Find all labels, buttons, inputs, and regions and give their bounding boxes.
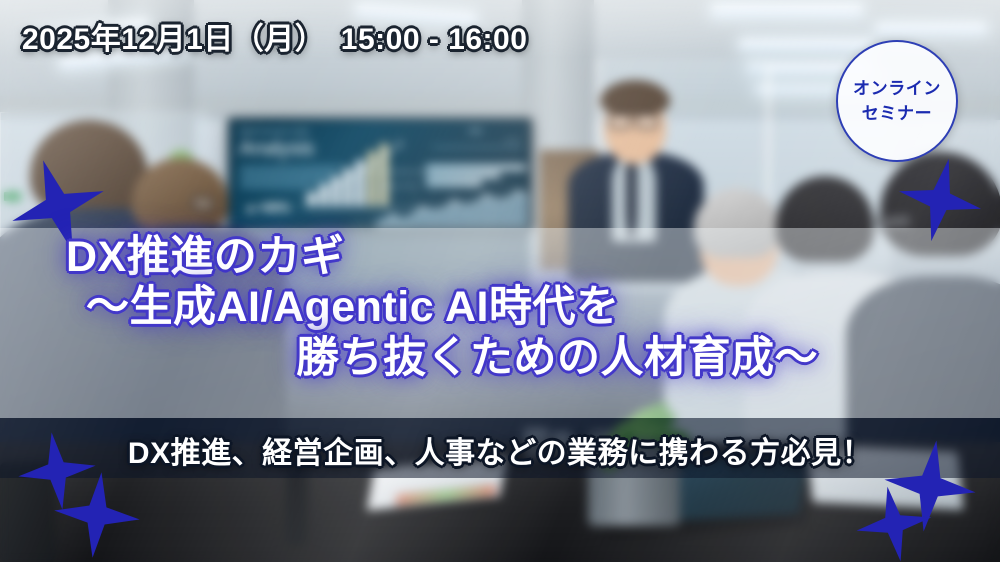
date-time-text: 2025年12月1日（月） 15:00 - 16:00: [22, 14, 527, 58]
title-line-2: 〜生成AI/Agentic AI時代を: [0, 282, 1000, 332]
sparkle-bottom-right-b-icon: [850, 480, 938, 562]
title-line-1: DX推進のカギ: [0, 232, 1000, 282]
presenter-tie: [626, 162, 637, 238]
eyeglasses-icon: [609, 114, 631, 129]
screen-dash-icon: [469, 130, 482, 132]
title-line-3: 勝ち抜くための人材育成〜: [0, 333, 1000, 383]
presentation-screen: Digital Distribution & Sales REPORT Anal…: [228, 118, 532, 230]
attendee-left2-hair: [132, 158, 228, 234]
screen-kicker: Digital Distribution & Sales: [240, 129, 310, 135]
sparkle-bottom-left-b-icon: [50, 468, 145, 562]
screen-report-label: REPORT: [505, 139, 520, 143]
eyeglasses-icon: [191, 195, 214, 212]
badge-line-2: セミナー: [862, 105, 932, 122]
seminar-banner: Digital Distribution & Sales REPORT Anal…: [0, 0, 1000, 562]
hbar-label: All Consumption growth: [376, 169, 425, 174]
subtitle-text: DX推進、経営企画、人事などの業務に携わる方必見！: [0, 428, 1000, 472]
screen-metric: ▲+89%: [244, 200, 290, 215]
badge-line-1: オンライン: [853, 80, 941, 97]
screen-rule: [432, 147, 522, 148]
presenter-hair: [600, 80, 670, 116]
eyeglasses-icon: [636, 114, 658, 129]
main-title: DX推進のカギ 〜生成AI/Agentic AI時代を 勝ち抜くための人材育成〜: [0, 232, 1000, 383]
screen-footer: Social Networks profit in marketing: [351, 222, 409, 226]
online-seminar-badge: オンライン セミナー: [836, 40, 958, 162]
